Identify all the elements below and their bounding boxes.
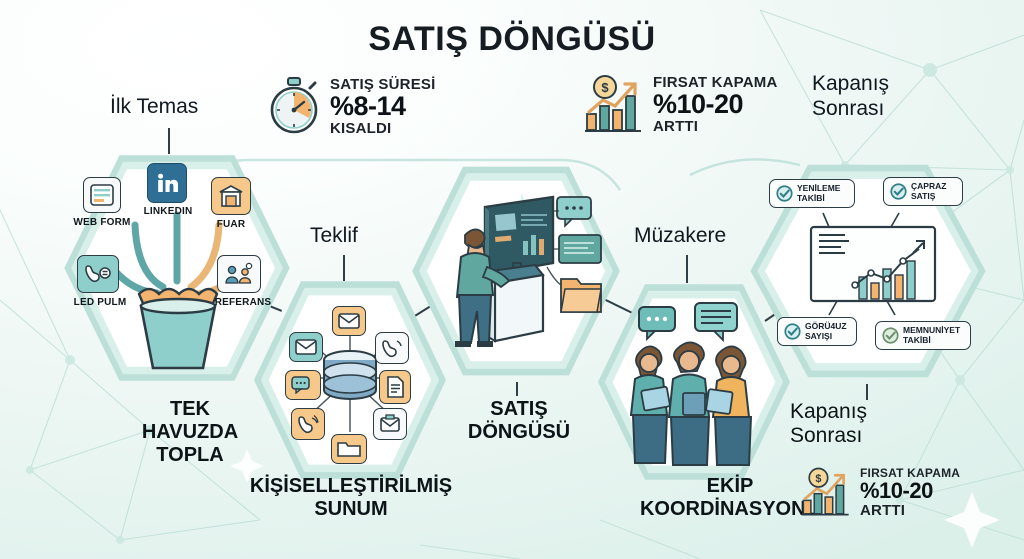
badge-value: %10-20: [860, 480, 960, 502]
phone-glyph: [381, 338, 403, 358]
web-form-glyph: [90, 184, 114, 206]
stage-label-muzakere: Müzakere: [634, 224, 726, 248]
folder-icon: [561, 279, 601, 312]
chat-bubble-lines-icon: [695, 303, 737, 340]
hex-content-satis-dongusu: [425, 175, 607, 367]
mail-open-glyph: [379, 414, 401, 434]
badge-value: %10-20: [653, 91, 778, 118]
stopwatch-icon: [266, 76, 322, 136]
stage-node-satis-dongusu[interactable]: [410, 160, 622, 382]
hex-content-kapanis-sonrasi: YENİLEME TAKİBİ ÇAPRAZ SATIŞ GÖRÜ4UZ SAY…: [763, 173, 973, 369]
presentation-illustration: [425, 175, 607, 367]
dashboard-screen-icon: [485, 197, 553, 275]
mail-open-icon[interactable]: [373, 408, 407, 440]
team-person-middle: [669, 342, 709, 465]
phone-lead-glyph: [84, 262, 112, 286]
stage-label-kapanis-sonrasi: Kapanış Sonrası: [812, 72, 889, 122]
stage-node-kapanis-sonrasi[interactable]: YENİLEME TAKİBİ ÇAPRAZ SATIŞ GÖRÜ4UZ SAY…: [748, 158, 988, 384]
meeting-count-label: GÖRÜ4UZ SAYIŞI: [805, 322, 847, 341]
phone-icon[interactable]: [375, 332, 409, 364]
chat-icon[interactable]: [285, 370, 321, 400]
stage-label-teklif: Teklif: [310, 224, 358, 248]
growth-chart-coin-icon: $: [583, 74, 645, 134]
badge-sales-duration: SATIŞ SÜRESİ %8-14 KISALDI: [266, 76, 435, 136]
check-circle-icon: [890, 183, 907, 200]
stage-stem-1: [168, 128, 170, 154]
phone-ring-icon[interactable]: [291, 408, 325, 440]
hex-content-teklif: [267, 290, 433, 470]
badge-text-block: SATIŞ SÜRESİ %8-14 KISALDI: [330, 77, 435, 136]
fair-booth-label: FUAR: [203, 219, 259, 230]
chat-bubble-dots-icon: [639, 307, 675, 339]
growth-chart-coin-icon: $: [800, 466, 852, 518]
cross-sell-pill[interactable]: ÇAPRAZ SATIŞ: [883, 177, 963, 206]
document-glyph: [385, 376, 405, 398]
satisfaction-tracking-pill[interactable]: MEMNUNİYET TAKİBİ: [875, 321, 971, 350]
check-circle-icon: [776, 185, 793, 202]
chat-bubble-icon: [557, 197, 591, 226]
envelope-glyph: [295, 339, 317, 355]
mail-glyph: [338, 313, 360, 329]
check-circle-icon: [882, 327, 899, 344]
info-panel-icon: [559, 235, 601, 263]
badge-line3: ARTTI: [860, 503, 960, 518]
mail-icon[interactable]: [332, 306, 366, 336]
badge-deal-closing-bottom: $ FIRSAT KAPAMA %10-20 ARTTI: [800, 466, 960, 518]
meeting-count-pill[interactable]: GÖRÜ4UZ SAYIŞI: [777, 317, 857, 346]
chat-glyph: [291, 376, 315, 394]
web-form-icon[interactable]: [83, 177, 121, 213]
linkedin-icon[interactable]: [147, 163, 187, 203]
svg-text:$: $: [601, 80, 609, 95]
badge-line3: KISALDI: [330, 121, 435, 136]
web-form-label: WEB FORM: [71, 217, 133, 228]
badge-text-block: FIRSAT KAPAMA %10-20 ARTTI: [860, 467, 960, 518]
badge-line1: FIRSAT KAPAMA: [653, 75, 778, 90]
badge-line1: SATIŞ SÜRESİ: [330, 77, 435, 92]
renewal-tracking-pill[interactable]: YENİLEME TAKİBİ: [769, 179, 855, 208]
svg-text:$: $: [815, 473, 821, 485]
referral-people-glyph: [224, 262, 254, 286]
renewal-tracking-label: YENİLEME TAKİBİ: [797, 184, 840, 203]
stage-caption-satis-dongusu: SATIŞ DÖNGÜSÜ: [430, 398, 608, 444]
stage-stem-2: [343, 255, 345, 281]
team-person-left: [631, 346, 670, 463]
stage-caption-kapanis-sonrasi: Kapanış Sonrası: [790, 400, 976, 448]
infographic-canvas: SATIŞ DÖNGÜSÜ İlk Temas: [0, 0, 1024, 559]
phone-lead-icon[interactable]: [77, 255, 119, 293]
stage-caption-ilk-temas: TEK HAVUZDA TOPLA: [90, 398, 290, 467]
stage-stem-4: [686, 255, 688, 283]
folder-icon[interactable]: [331, 434, 367, 464]
stage-label-ilk-temas: İlk Temas: [110, 95, 198, 119]
phone-ring-glyph: [297, 414, 319, 434]
fair-booth-icon[interactable]: [211, 177, 251, 215]
phone-lead-label: LED PULM: [65, 297, 135, 308]
database-icon: [324, 351, 376, 399]
document-icon[interactable]: [379, 370, 411, 404]
page-title: SATIŞ DÖNGÜSÜ: [0, 20, 1024, 59]
satisfaction-tracking-label: MEMNUNİYET TAKİBİ: [903, 326, 960, 345]
linkedin-label: LINKEDIN: [133, 206, 203, 217]
stage-stem-3: [516, 382, 518, 396]
envelope-icon[interactable]: [289, 332, 323, 362]
hex-content-ilk-temas: WEB FORM LINKEDIN FUAR: [77, 163, 277, 373]
team-person-right: [706, 346, 751, 465]
badge-value: %8-14: [330, 93, 435, 120]
stage-caption-teklif: KİŞİSELLEŞTİRİLMİŞ SUNUM: [215, 475, 487, 521]
badge-line1: FIRSAT KAPAMA: [860, 467, 960, 479]
badge-line3: ARTTI: [653, 119, 778, 134]
fair-booth-glyph: [218, 184, 244, 208]
stage-stem-5: [866, 384, 868, 400]
folder-glyph: [337, 440, 361, 458]
badge-deal-closing-top: $ FIRSAT KAPAMA %10-20 ARTTI: [583, 74, 778, 134]
check-circle-icon: [784, 323, 801, 340]
linkedin-glyph: [155, 171, 179, 195]
cross-sell-label: ÇAPRAZ SATIŞ: [911, 182, 946, 201]
badge-text-block: FIRSAT KAPAMA %10-20 ARTTI: [653, 75, 778, 134]
